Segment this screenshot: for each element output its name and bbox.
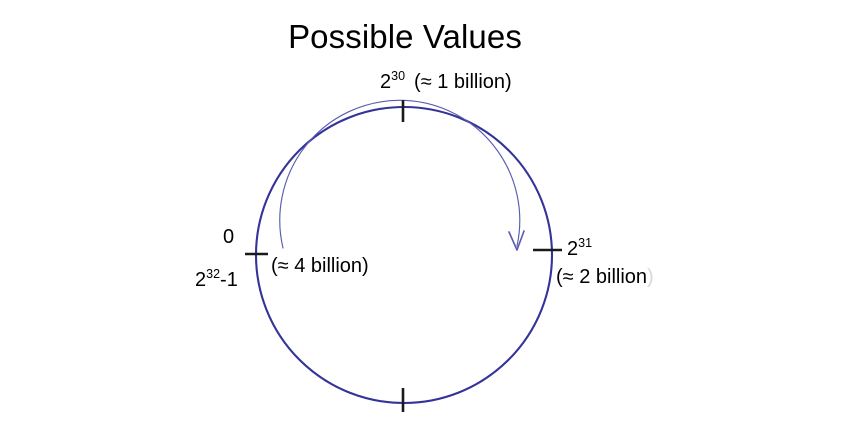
- label-2-billion-note-closing-paren: ): [647, 266, 654, 288]
- label-4-billion-note: (≈ 4 billion): [271, 255, 369, 277]
- clockwise-wrap-arrow-arc: [280, 100, 520, 248]
- label-2-pow-32-minus-1: 232-1: [195, 269, 238, 291]
- label-2-pow-30-note: (≈ 1 billion): [414, 71, 512, 93]
- clockwise-wrap-arrow-head-icon: [509, 231, 524, 250]
- label-zero: 0: [223, 226, 234, 248]
- label-2-pow-31-base: 2: [567, 238, 578, 260]
- label-2-pow-31-exponent: 31: [578, 236, 592, 250]
- label-2-pow-30: 230(≈ 1 billion): [380, 71, 512, 93]
- label-2-pow-32-base: 2: [195, 269, 206, 291]
- value-wheel-diagram: [0, 0, 850, 437]
- label-2-pow-31: 231: [567, 238, 592, 260]
- label-2-pow-32-exponent: 32: [206, 267, 220, 281]
- label-2-pow-30-exponent: 30: [391, 69, 405, 83]
- label-2-billion-note-text: (≈ 2 billion: [556, 266, 647, 288]
- slide-canvas: Possible Values 230(≈ 1 billion) 0 232-1…: [0, 0, 850, 437]
- label-2-billion-note: (≈ 2 billion): [556, 266, 654, 288]
- label-2-pow-30-base: 2: [380, 71, 391, 93]
- label-2-pow-32-suffix: -1: [220, 269, 238, 291]
